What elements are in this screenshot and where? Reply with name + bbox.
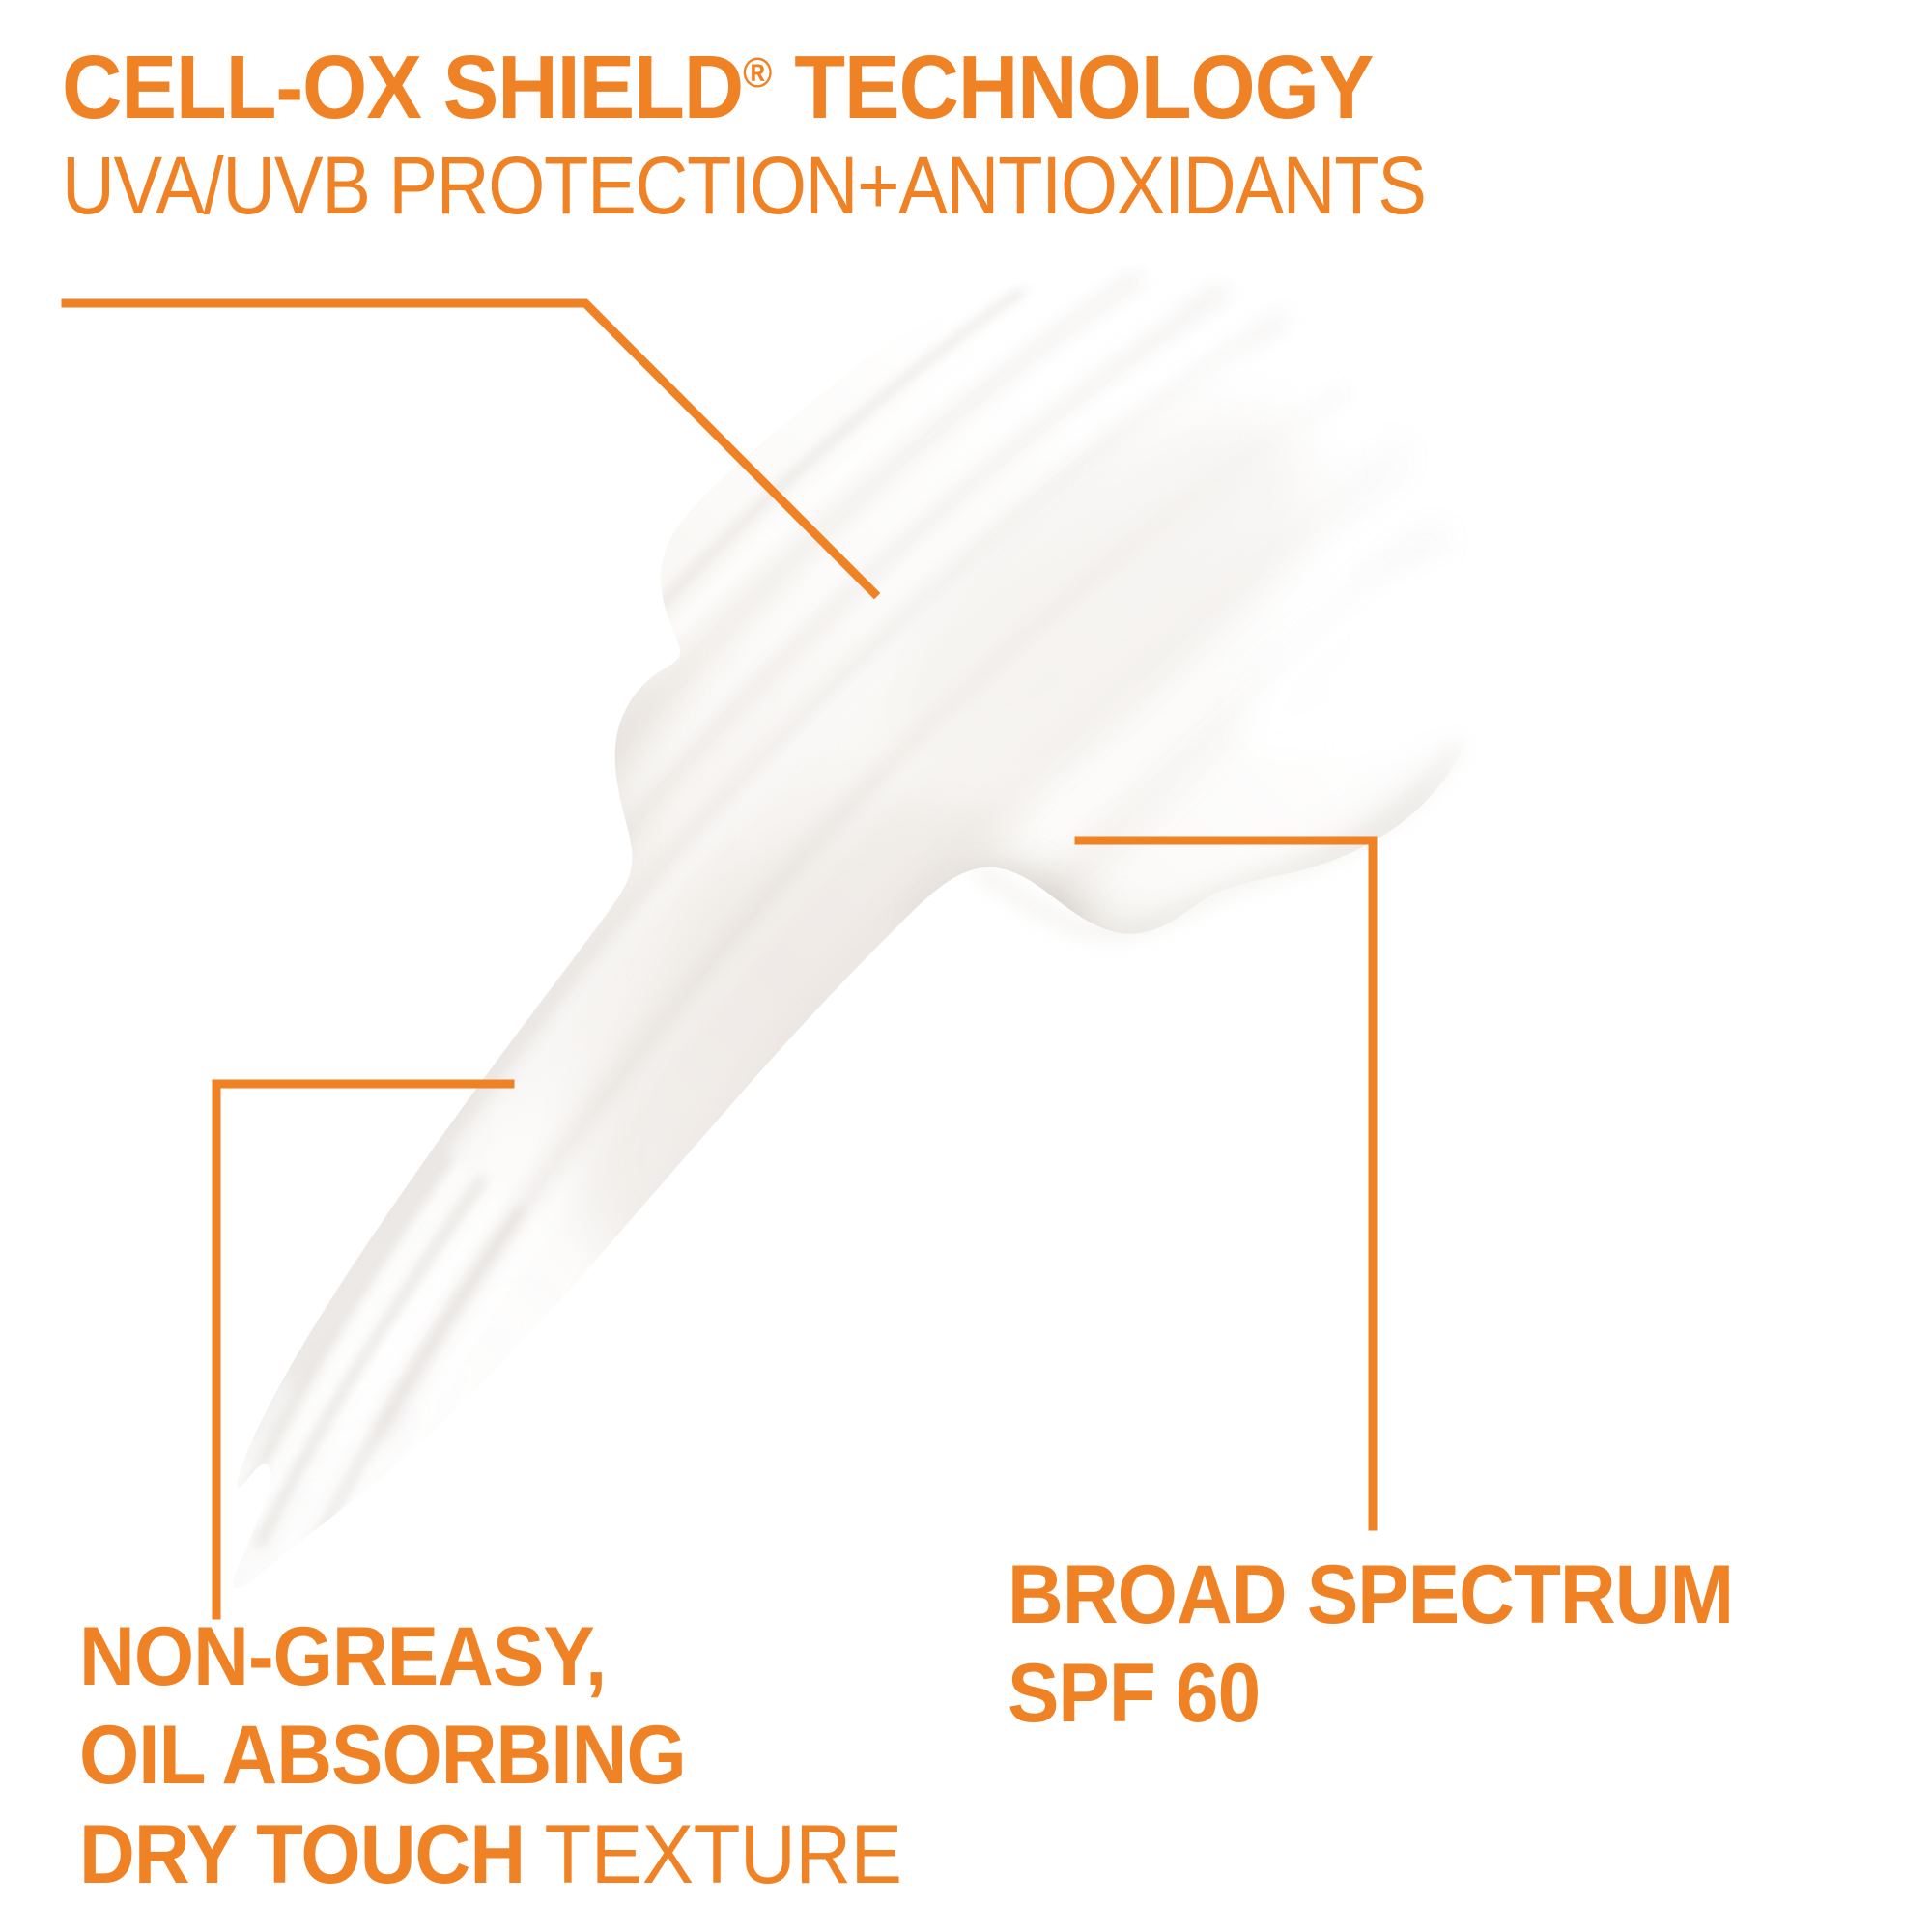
page-title: CELL-OX SHIELD® TECHNOLOGY xyxy=(62,43,1463,132)
headline-main: CELL-OX SHIELD xyxy=(62,37,743,137)
callout-broad-spectrum-line-2: SPF 60 xyxy=(1008,1644,1733,1743)
callout-broad-spectrum: BROAD SPECTRUM SPF 60 xyxy=(1008,1546,1788,1744)
callout-broad-spectrum-line-1: BROAD SPECTRUM xyxy=(1008,1546,1733,1644)
leader-line-broad-spectrum xyxy=(1079,840,1373,1526)
callout-non-greasy-line-3: DRY TOUCH TEXTURE xyxy=(79,1805,902,1904)
callout-non-greasy-line-3-regular: TEXTURE xyxy=(525,1808,901,1901)
leader-line-cell-ox-shield xyxy=(66,303,874,593)
callout-non-greasy: NON-GREASY, OIL ABSORBING DRY TOUCH TEXT… xyxy=(79,1607,964,1904)
registered-trademark-icon: ® xyxy=(743,49,772,97)
header-text-block: CELL-OX SHIELD® TECHNOLOGY UVA/UVB PROTE… xyxy=(62,43,1569,226)
product-feature-graphic: CELL-OX SHIELD® TECHNOLOGY UVA/UVB PROTE… xyxy=(0,0,1932,1932)
leader-line-non-greasy xyxy=(216,1084,510,1615)
headline-tail: TECHNOLOGY xyxy=(772,37,1373,137)
page-subtitle: UVA/UVB PROTECTION+ANTIOXIDANTS xyxy=(62,145,1426,226)
callout-non-greasy-line-2: OIL ABSORBING xyxy=(79,1706,902,1804)
callout-non-greasy-line-3-bold: DRY TOUCH xyxy=(79,1808,525,1901)
callout-non-greasy-line-1: NON-GREASY, xyxy=(79,1607,902,1706)
